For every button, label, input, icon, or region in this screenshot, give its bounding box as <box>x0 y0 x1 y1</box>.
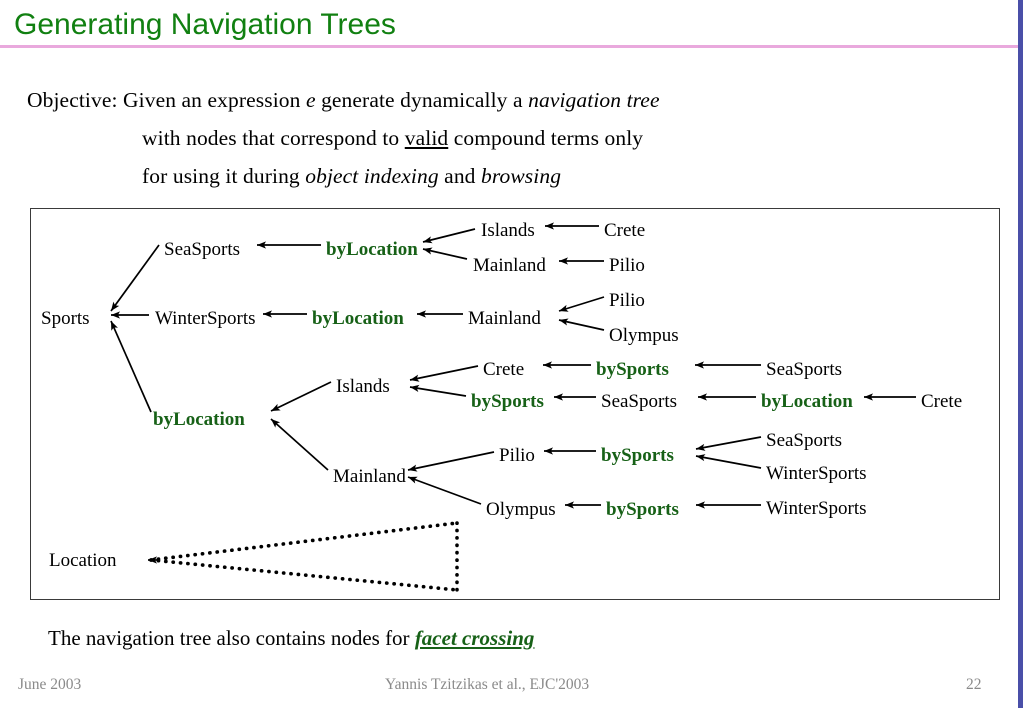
node-olympus-2[interactable]: Olympus <box>486 500 556 519</box>
node-olympus-1[interactable]: Olympus <box>609 326 679 345</box>
facet-crossing-cone <box>151 523 457 590</box>
node-mainland-2[interactable]: Mainland <box>468 309 541 328</box>
node-bysports-2[interactable]: bySports <box>471 392 544 411</box>
caption-prefix: The navigation tree also contains nodes … <box>48 626 415 650</box>
node-bylocation-4[interactable]: byLocation <box>761 392 853 411</box>
node-pilio-2[interactable]: Pilio <box>609 291 645 310</box>
node-bylocation-2[interactable]: byLocation <box>312 309 404 328</box>
node-bysports-3[interactable]: bySports <box>601 446 674 465</box>
footer-citation: Yannis Tzitzikas et al., EJC'2003 <box>385 676 589 694</box>
title-divider <box>0 45 1018 48</box>
node-seasports-3[interactable]: SeaSports <box>601 392 677 411</box>
node-mainland-3[interactable]: Mainland <box>333 467 406 486</box>
node-location[interactable]: Location <box>49 551 117 570</box>
node-pilio-3[interactable]: Pilio <box>499 446 535 465</box>
page-title: Generating Navigation Trees <box>14 8 396 42</box>
objective-underline-valid: valid <box>405 126 449 150</box>
node-bysports-1[interactable]: bySports <box>596 360 669 379</box>
objective-text-c: with nodes that correspond to <box>142 126 405 150</box>
node-wintersports-1[interactable]: WinterSports <box>155 309 256 328</box>
objective-text-e: for using it during <box>142 164 305 188</box>
objective-var-e: e <box>306 88 316 112</box>
objective-em-object-indexing: object indexing <box>305 164 438 188</box>
node-bysports-4[interactable]: bySports <box>606 500 679 519</box>
node-bylocation-1[interactable]: byLocation <box>326 240 418 259</box>
objective-text-d: compound terms only <box>448 126 643 150</box>
footer-date: June 2003 <box>18 676 81 694</box>
node-crete-2[interactable]: Crete <box>483 360 524 379</box>
node-seasports-2[interactable]: SeaSports <box>766 360 842 379</box>
node-wintersports-3[interactable]: WinterSports <box>766 499 867 518</box>
objective-line-3: for using it during object indexing and … <box>142 164 561 189</box>
node-crete-3[interactable]: Crete <box>921 392 962 411</box>
objective-text-b: generate dynamically a <box>316 88 529 112</box>
objective-text-a: Objective: Given an expression <box>27 88 306 112</box>
node-crete-1[interactable]: Crete <box>604 221 645 240</box>
node-sports[interactable]: Sports <box>41 309 90 328</box>
objective-line-2: with nodes that correspond to valid comp… <box>142 126 643 151</box>
node-pilio-1[interactable]: Pilio <box>609 256 645 275</box>
footer-page-number: 22 <box>966 676 982 694</box>
node-bylocation-3[interactable]: byLocation <box>153 410 245 429</box>
node-mainland-1[interactable]: Mainland <box>473 256 546 275</box>
node-islands-1[interactable]: Islands <box>481 221 535 240</box>
navigation-tree-diagram: Sports SeaSports byLocation Islands Cret… <box>30 208 1000 600</box>
node-islands-2[interactable]: Islands <box>336 377 390 396</box>
slide-caption: The navigation tree also contains nodes … <box>48 626 534 651</box>
objective-em-navigation-tree: navigation tree <box>528 88 659 112</box>
caption-facet-crossing-link[interactable]: facet crossing <box>415 626 535 650</box>
objective-em-browsing: browsing <box>481 164 561 188</box>
node-wintersports-2[interactable]: WinterSports <box>766 464 867 483</box>
objective-line-1: Objective: Given an expression e generat… <box>27 88 660 113</box>
objective-text-f: and <box>439 164 481 188</box>
node-seasports-1[interactable]: SeaSports <box>164 240 240 259</box>
slide-canvas: Generating Navigation Trees Objective: G… <box>0 0 1023 708</box>
node-seasports-4[interactable]: SeaSports <box>766 431 842 450</box>
